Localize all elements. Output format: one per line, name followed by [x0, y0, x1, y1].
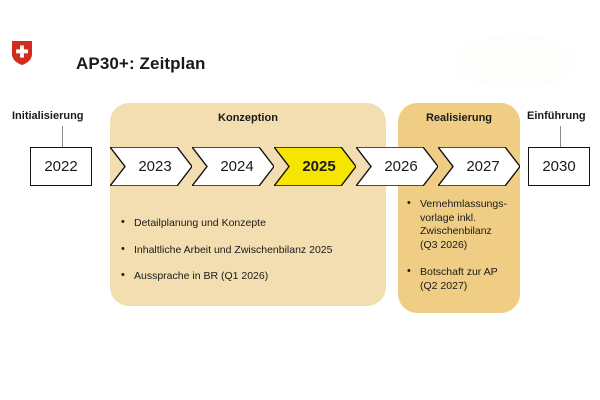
bullet-line: Botschaft zur AP	[420, 266, 516, 280]
background-watermark	[455, 34, 575, 88]
phase-label-konzeption: Konzeption	[110, 112, 386, 124]
phase-label-einfuehrung: Einführung	[527, 110, 586, 122]
realisierung-bullet-list: Vernehmlassungs-vorlage inkl.Zwischenbil…	[404, 198, 516, 307]
connector-line-einfuehrung	[560, 126, 561, 147]
swiss-confederation-shield-icon	[12, 41, 32, 65]
bullet-item: Vernehmlassungs-vorlage inkl.Zwischenbil…	[404, 198, 516, 252]
bullet-line: Detailplanung und Konzepte	[134, 217, 380, 231]
timeline-year-label: 2025	[294, 158, 335, 175]
timeline-year-label: 2024	[212, 158, 253, 175]
timeline-year-2023[interactable]: 2023	[110, 147, 192, 186]
timeline-year-label: 2027	[458, 158, 499, 175]
bullet-line: Zwischenbilanz	[420, 225, 516, 239]
timeline-year-2022[interactable]: 2022	[30, 147, 92, 186]
timeline-year-2025[interactable]: 2025	[274, 147, 356, 186]
timeline-year-label: 2023	[130, 158, 171, 175]
timeline-year-2026[interactable]: 2026	[356, 147, 438, 186]
bullet-line: Inhaltliche Arbeit und Zwischenbilanz 20…	[134, 244, 380, 258]
timeline-year-row: 2022202320242025202620272030	[0, 147, 600, 186]
bullet-item: Aussprache in BR (Q1 2026)	[118, 270, 380, 284]
timeline-year-2024[interactable]: 2024	[192, 147, 274, 186]
bullet-line: Vernehmlassungs-	[420, 198, 516, 212]
page-title: AP30+: Zeitplan	[76, 54, 206, 74]
bullet-line: (Q3 2026)	[420, 239, 516, 253]
timeline-year-label: 2026	[376, 158, 417, 175]
phase-label-realisierung: Realisierung	[398, 112, 520, 124]
slide-canvas: AP30+: Zeitplan Initialisierung Einführu…	[0, 0, 600, 400]
bullet-item: Inhaltliche Arbeit und Zwischenbilanz 20…	[118, 244, 380, 258]
bullet-line: Aussprache in BR (Q1 2026)	[134, 270, 380, 284]
connector-line-initialisierung	[62, 126, 63, 147]
timeline-year-label: 2022	[44, 158, 77, 175]
konzeption-bullet-list: Detailplanung und KonzepteInhaltliche Ar…	[118, 217, 380, 297]
timeline-year-label: 2030	[542, 158, 575, 175]
timeline-year-2030[interactable]: 2030	[528, 147, 590, 186]
bullet-line: (Q2 2027)	[420, 280, 516, 294]
bullet-item: Detailplanung und Konzepte	[118, 217, 380, 231]
phase-label-initialisierung: Initialisierung	[12, 110, 84, 122]
timeline-year-2027[interactable]: 2027	[438, 147, 520, 186]
bullet-line: vorlage inkl.	[420, 212, 516, 226]
bullet-item: Botschaft zur AP(Q2 2027)	[404, 266, 516, 293]
